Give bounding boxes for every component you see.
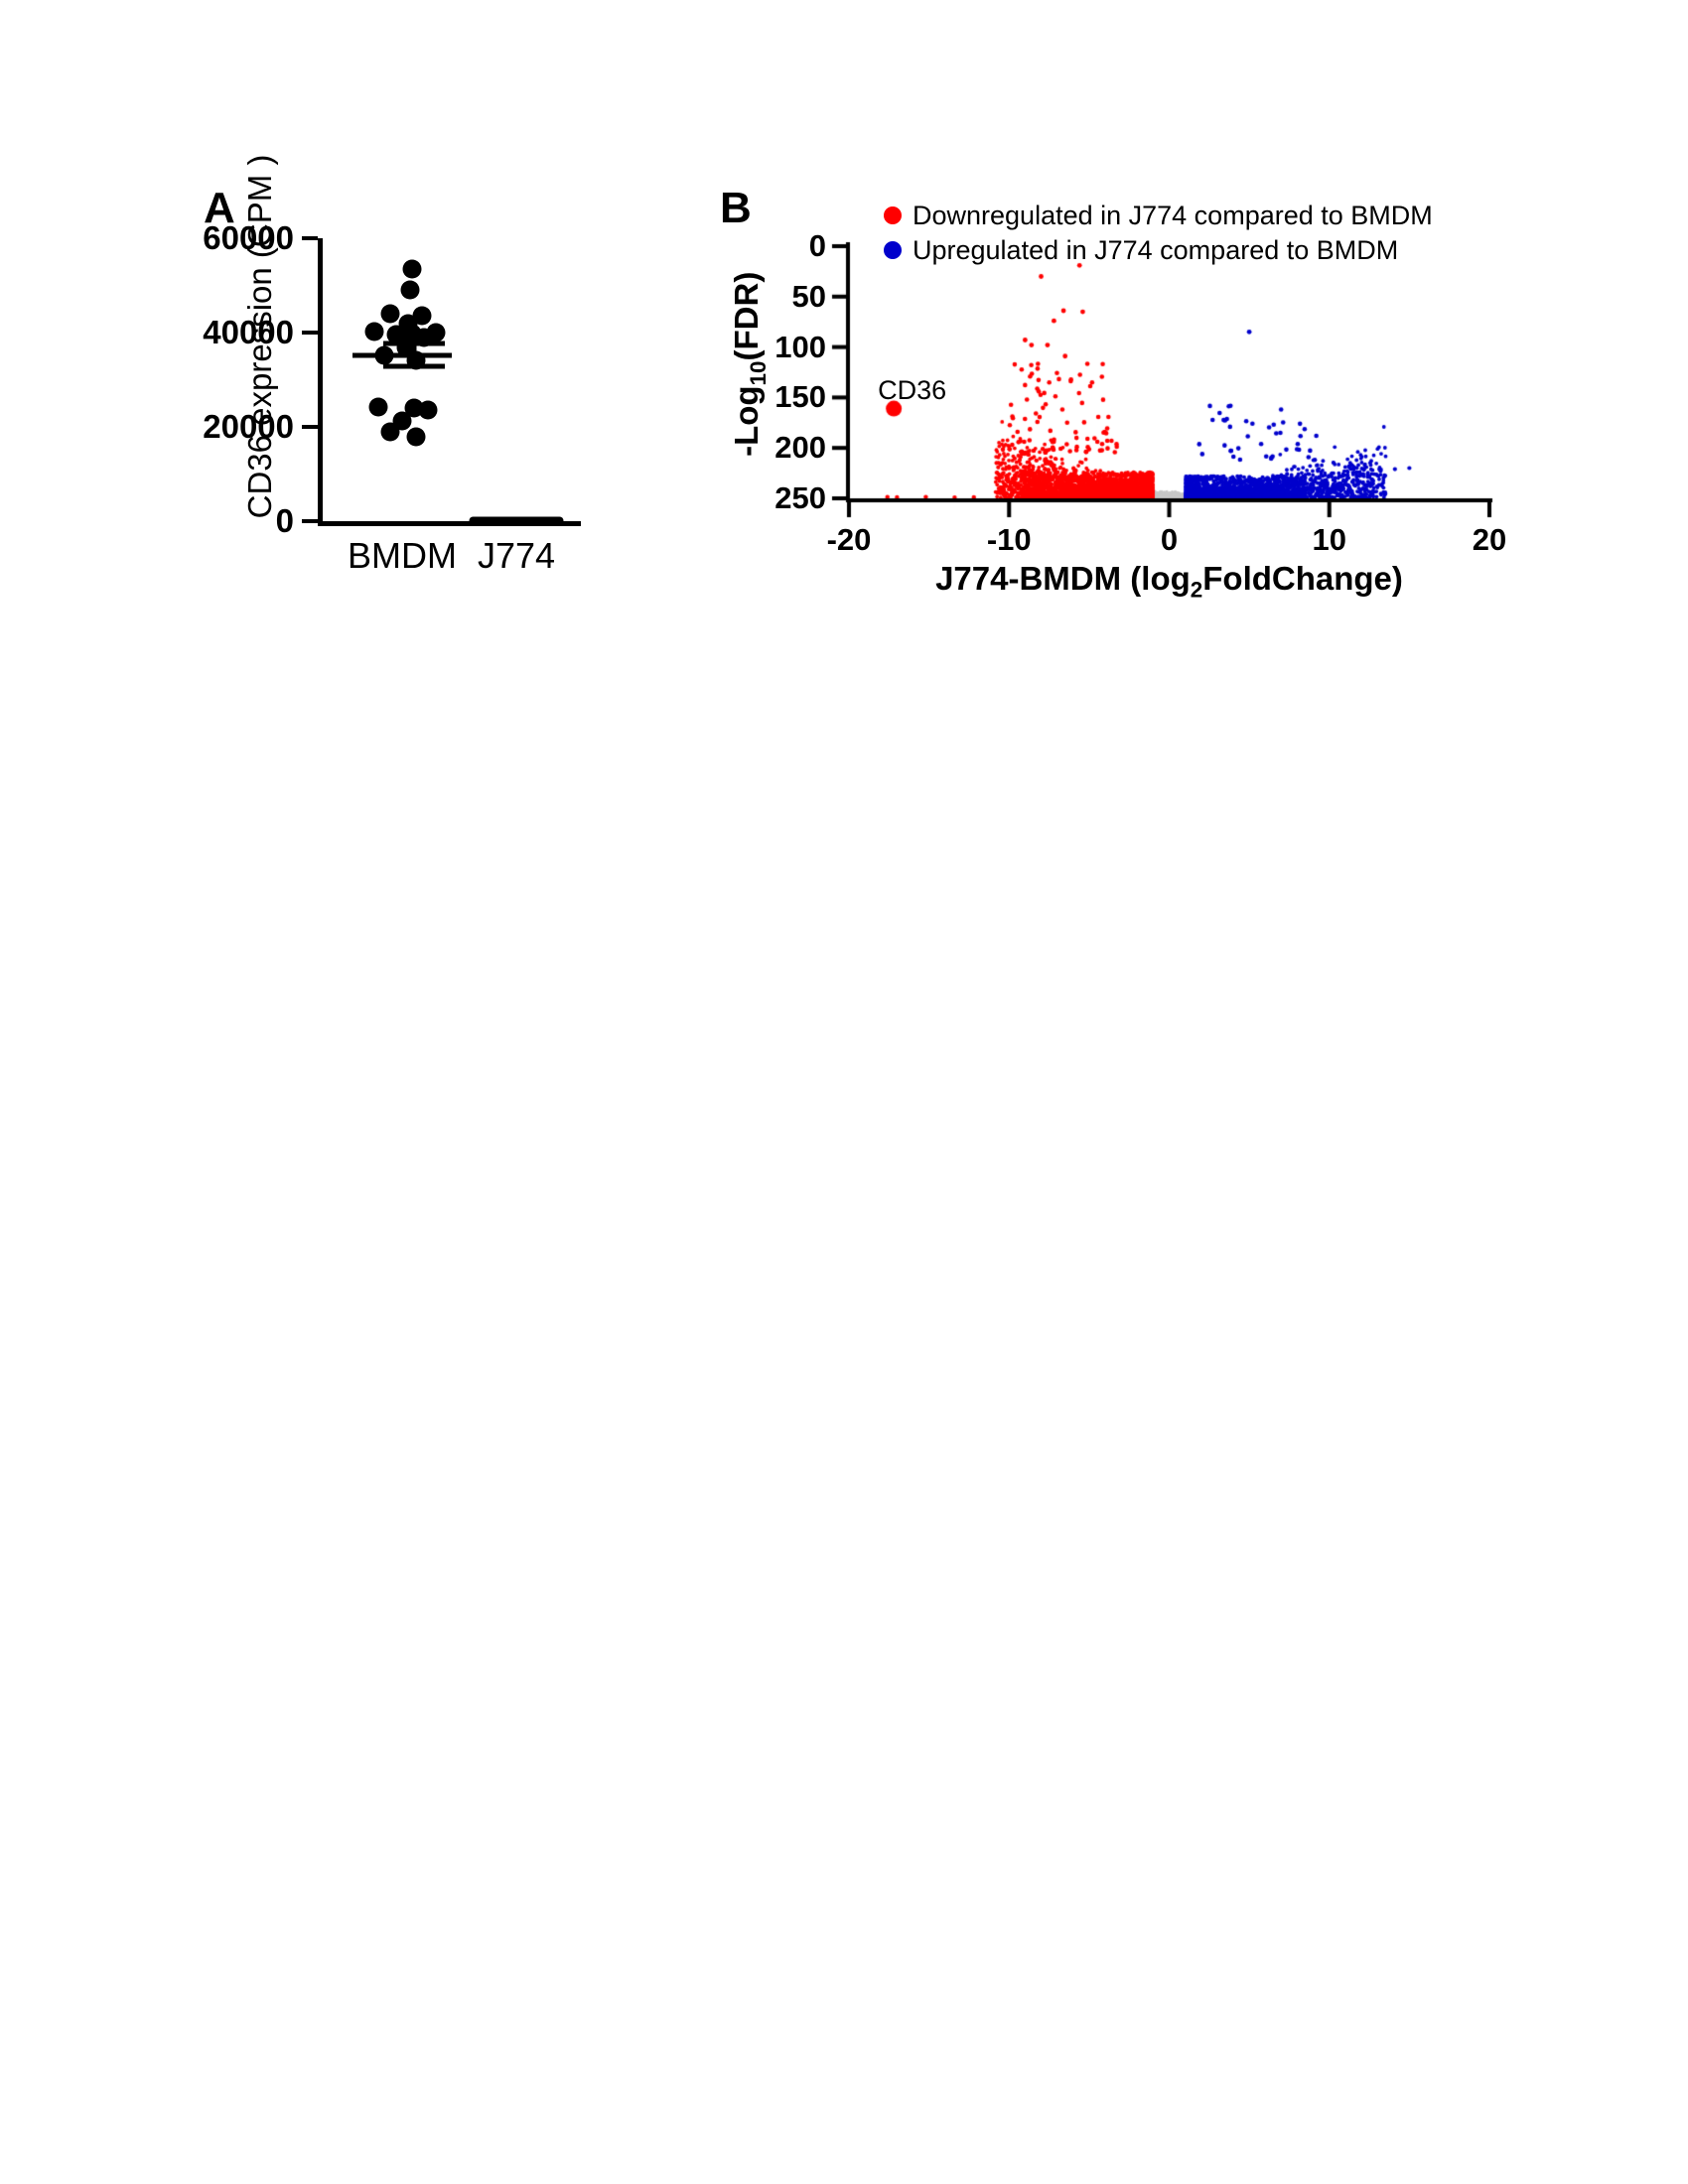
panel-b-y-tick-label: 150 — [755, 379, 826, 415]
panel-a-axes: 0200004000060000BMDMJ774 — [179, 228, 606, 586]
panel-a-dotplot: CD36 expression (CPM ) 0200004000060000B… — [179, 228, 606, 586]
panel-a-error-cap — [383, 341, 445, 346]
panel-b-y-tick-label: 0 — [755, 228, 826, 264]
x-axis-label-pre: J774-BMDM (log — [935, 560, 1191, 597]
panel-a-j774-points — [470, 517, 564, 526]
panel-b-y-tick-label: 200 — [755, 430, 826, 466]
panel-a-data-point — [369, 398, 388, 417]
volcano-scatter-canvas — [755, 228, 1509, 546]
panel-a-group-label-bmdm: BMDM — [348, 535, 457, 577]
panel-a-data-point — [381, 305, 400, 324]
figure-root: A B CD36 expression (CPM ) 0200004000060… — [0, 0, 1688, 2184]
panel-b-x-tick-label: -10 — [987, 522, 1032, 558]
panel-a-data-point — [381, 423, 400, 442]
panel-a-y-tick-label: 60000 — [179, 219, 294, 257]
panel-b-y-tick-label: 250 — [755, 480, 826, 516]
panel-a-data-point — [403, 259, 422, 278]
panel-a-y-tick-label: 0 — [179, 502, 294, 540]
panel-a-error-cap — [383, 364, 445, 369]
panel-a-y-tick — [302, 236, 318, 240]
panel-b-x-axis-label: J774-BMDM (log2FoldChange) — [849, 560, 1489, 604]
panel-b-volcano: Downregulated in J774 compared to BMDM U… — [755, 228, 1509, 586]
panel-b-x-tick-label: 10 — [1313, 522, 1346, 558]
panel-a-y-tick — [302, 331, 318, 335]
panel-b-x-tick-label: 20 — [1473, 522, 1506, 558]
x-axis-label-sub: 2 — [1191, 578, 1202, 603]
panel-a-data-point — [365, 323, 384, 341]
panel-a-y-tick-label: 20000 — [179, 408, 294, 446]
panel-b-x-tick-label: 0 — [1161, 522, 1178, 558]
panel-a-mean-line — [352, 352, 452, 357]
panel-a-y-tick-label: 40000 — [179, 314, 294, 351]
panel-a-data-point — [401, 281, 420, 300]
panel-b-y-tick-label: 50 — [755, 279, 826, 315]
panel-a-group-label-j774: J774 — [478, 535, 555, 577]
panel-a-y-tick — [302, 425, 318, 429]
panel-a-data-point — [419, 401, 438, 420]
panel-b-y-tick-label: 100 — [755, 330, 826, 365]
panel-a-y-axis-line — [318, 238, 323, 521]
panel-a-y-tick — [302, 519, 318, 523]
panel-a-data-point — [407, 427, 426, 446]
x-axis-label-post: FoldChange) — [1202, 560, 1403, 597]
panel-b-x-tick-label: -20 — [827, 522, 872, 558]
legend-dot-red-icon — [884, 206, 902, 224]
